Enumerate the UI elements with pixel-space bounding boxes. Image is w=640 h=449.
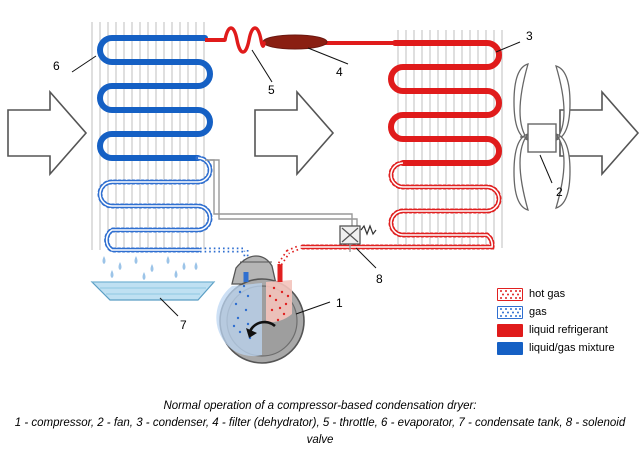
condensate-tank <box>92 282 214 300</box>
airflow-arrow-outlet <box>560 92 638 174</box>
caption-line-1: Normal operation of a compressor-based c… <box>0 398 640 415</box>
dryer-diagram: 6 3 4 5 2 1 7 8 hot gas <box>0 0 640 444</box>
callout-7: 7 <box>180 318 187 332</box>
legend-item-liquid-gas-mixture: liquid/gas mixture <box>497 340 637 357</box>
legend-swatch-gas <box>497 306 523 319</box>
callout-3: 3 <box>526 29 533 43</box>
callout-6: 6 <box>53 59 60 73</box>
legend-swatch-liquid-refrigerant <box>497 324 523 337</box>
airflow-arrow-inlet <box>8 92 86 174</box>
legend-swatch-liquid-gas-mixture <box>497 342 523 355</box>
compressor <box>216 256 304 363</box>
legend-label-liquid-refrigerant: liquid refrigerant <box>529 324 608 337</box>
legend-item-liquid-refrigerant: liquid refrigerant <box>497 322 637 339</box>
legend-label-liquid-gas-mixture: liquid/gas mixture <box>529 342 615 355</box>
condenser-coil-hot-gas-core <box>300 163 499 247</box>
filter-dehydrator <box>263 35 327 49</box>
callout-5: 5 <box>268 83 275 97</box>
legend-label-hot-gas: hot gas <box>529 288 565 301</box>
legend: hot gas gas liquid refrigerant liquid/ga… <box>497 286 637 358</box>
condensate-drips <box>103 256 198 280</box>
throttle-capillary <box>225 28 264 52</box>
legend-swatch-hot-gas <box>497 288 523 301</box>
legend-item-gas: gas <box>497 304 637 321</box>
airflow-arrow-middle <box>255 92 333 174</box>
condenser-coil-liquid <box>391 43 499 163</box>
bypass-tubing <box>205 160 357 226</box>
callout-1: 1 <box>336 296 343 310</box>
callout-8: 8 <box>376 272 383 286</box>
legend-label-gas: gas <box>529 306 547 319</box>
discharge-line <box>280 247 300 264</box>
caption: Normal operation of a compressor-based c… <box>0 398 640 449</box>
legend-item-hot-gas: hot gas <box>497 286 637 303</box>
callout-2: 2 <box>556 185 563 199</box>
callout-4: 4 <box>336 65 343 79</box>
